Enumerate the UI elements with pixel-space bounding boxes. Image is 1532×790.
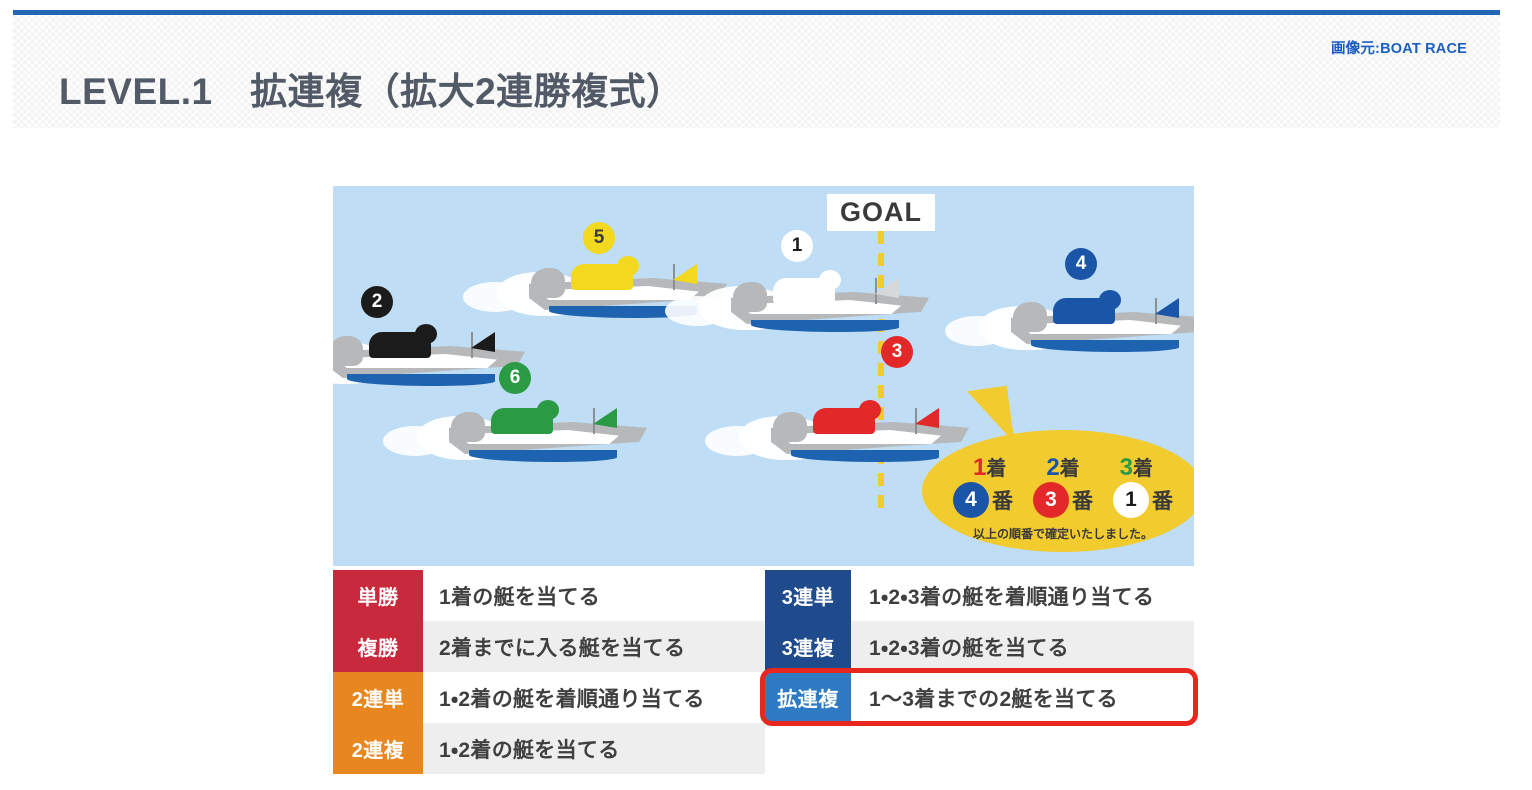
result-unit: 番 <box>992 485 1013 515</box>
result-unit: 番 <box>1152 485 1173 515</box>
boat-engine <box>333 336 363 366</box>
bet-type-desc: 1着の艇を当てる <box>423 570 765 621</box>
boat-driver <box>571 264 633 290</box>
table-row[interactable]: 3連複 1・2・3着の艇を当てる <box>765 621 1194 672</box>
image-credit: 画像元:BOAT RACE <box>1331 37 1467 58</box>
table-row[interactable]: 複勝 2着までに入る艇を当てる <box>333 621 765 672</box>
page-header: 画像元:BOAT RACE LEVEL.1 拡連複（拡大2連勝複式） <box>13 15 1500 128</box>
bet-type-desc: 1・2着の艇を着順通り当てる <box>423 672 765 723</box>
result-unit: 番 <box>1072 485 1093 515</box>
bet-type-label: 2連複 <box>333 723 423 774</box>
callout-boat-row: 4 番 3 番 1 番 <box>922 482 1194 518</box>
bet-type-table-right: 3連単 1・2・3着の艇を着順通り当てる 3連複 1・2・3着の艇を当てる 拡連… <box>765 570 1194 723</box>
boat-driver <box>369 332 431 358</box>
goal-sign-label: GOAL <box>840 197 922 228</box>
result-boat-number: 4 <box>953 482 989 518</box>
race-illustration: GOAL 2 5 6 <box>333 186 1194 566</box>
boat-1: 1 <box>725 252 935 348</box>
boat-flag-icon <box>593 408 617 428</box>
bet-type-label: 3連単 <box>765 570 851 621</box>
boat-wake <box>791 450 939 462</box>
boat-number-badge: 5 <box>583 222 615 254</box>
boat-driver <box>491 408 553 434</box>
boat-driver <box>1053 298 1115 324</box>
boat-4: 4 <box>1005 272 1194 368</box>
boat-wake <box>469 450 617 462</box>
boat-wake <box>1031 340 1179 352</box>
boat-engine <box>733 282 767 312</box>
page-title: LEVEL.1 拡連複（拡大2連勝複式） <box>59 61 684 115</box>
bet-type-label: 単勝 <box>333 570 423 621</box>
bet-type-table-left: 単勝 1着の艇を当てる 複勝 2着までに入る艇を当てる 2連単 1・2着の艇を着… <box>333 570 765 774</box>
bet-type-desc: 1・2・3着の艇を着順通り当てる <box>851 570 1194 621</box>
boat-driver <box>773 278 835 304</box>
boat-driver <box>813 408 875 434</box>
boat-flag-icon <box>915 408 939 428</box>
table-row[interactable]: 2連単 1・2着の艇を着順通り当てる <box>333 672 765 723</box>
callout-rank-row: 1着 2着 3着 <box>922 452 1194 482</box>
boat-number-badge: 1 <box>781 230 813 262</box>
bet-type-desc: 1～3着までの2艇を当てる <box>851 672 1194 723</box>
boat-number-badge: 6 <box>499 362 531 394</box>
boat-flag-icon <box>1155 298 1179 318</box>
table-row[interactable]: 3連単 1・2・3着の艇を着順通り当てる <box>765 570 1194 621</box>
table-row-highlighted[interactable]: 拡連複 1～3着までの2艇を当てる <box>765 672 1194 723</box>
result-place-1: 4 番 <box>953 482 1013 518</box>
result-place-3: 1 番 <box>1113 482 1173 518</box>
callout-note: 以上の順番で確定いたしました。 <box>922 525 1194 542</box>
boat-engine <box>1013 302 1047 332</box>
result-place-2: 3 番 <box>1033 482 1093 518</box>
table-row[interactable]: 単勝 1着の艇を当てる <box>333 570 765 621</box>
boat-engine <box>531 268 565 298</box>
bet-type-desc: 1・2着の艇を当てる <box>423 723 765 774</box>
rank-3: 3着 <box>1120 452 1153 482</box>
boat-flag-icon <box>875 278 899 298</box>
result-callout: 1着 2着 3着 4 番 3 番 1 番 以上の順番で確定いたしました。 <box>922 430 1194 552</box>
rank-2: 2着 <box>1046 452 1079 482</box>
bet-type-desc: 1・2・3着の艇を当てる <box>851 621 1194 672</box>
table-row[interactable]: 2連複 1・2着の艇を当てる <box>333 723 765 774</box>
result-boat-number: 1 <box>1113 482 1149 518</box>
boat-number-badge: 4 <box>1065 248 1097 280</box>
bet-type-desc: 2着までに入る艇を当てる <box>423 621 765 672</box>
boat-number-badge: 2 <box>361 286 393 318</box>
result-boat-number: 3 <box>1033 482 1069 518</box>
bet-type-label: 複勝 <box>333 621 423 672</box>
boat-engine <box>773 412 807 442</box>
bet-type-label: 2連単 <box>333 672 423 723</box>
rank-1: 1着 <box>973 452 1006 482</box>
goal-sign: GOAL <box>827 194 935 231</box>
bet-type-label: 拡連複 <box>765 672 851 723</box>
bet-type-label: 3連複 <box>765 621 851 672</box>
boat-wake <box>751 320 899 332</box>
boat-engine <box>451 412 485 442</box>
boat-number-badge: 3 <box>881 336 913 368</box>
boat-flag-icon <box>471 332 495 352</box>
boat-6: 6 <box>443 382 653 478</box>
boat-flag-icon <box>673 264 697 284</box>
